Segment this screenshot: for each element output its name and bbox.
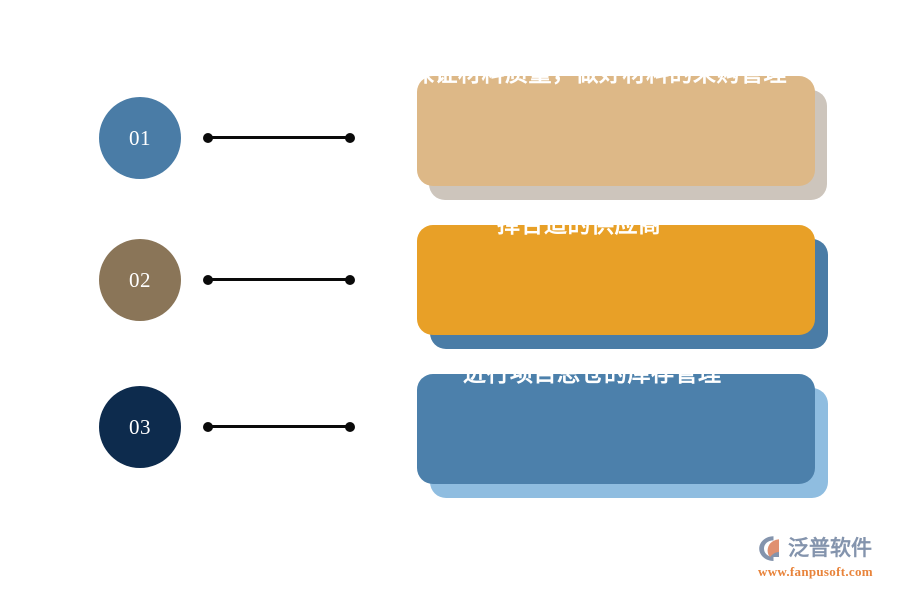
step-circle-02[interactable]: 02: [99, 239, 181, 321]
fanpu-swoosh-logo-icon: [757, 535, 785, 562]
logo-website-url: www.fanpusoft.com: [757, 564, 892, 580]
step-number-label: 03: [129, 417, 151, 438]
logo-company-name: 泛普软件: [788, 538, 872, 559]
step-card-1[interactable]: 保证材料质量，做好材料的采购管理: [417, 76, 815, 186]
connector-line-1: [203, 133, 355, 143]
step-card-text: 择合适的供应商: [497, 213, 662, 236]
brand-logo[interactable]: 泛普软件 www.fanpusoft.com: [757, 533, 892, 581]
step-card-text: 进行项目总仓的库存管理: [463, 362, 722, 385]
step-number-label: 01: [129, 128, 151, 149]
connector-stroke: [207, 136, 351, 139]
connector-stroke: [207, 278, 351, 281]
connector-stroke: [207, 425, 351, 428]
connector-line-3: [203, 422, 355, 432]
step-card-text: 保证材料质量，做好材料的采购管理: [411, 62, 787, 85]
step-circle-03[interactable]: 03: [99, 386, 181, 468]
connector-dot-end-icon: [345, 422, 355, 432]
step-card-2[interactable]: 择合适的供应商: [417, 225, 815, 335]
step-circle-01[interactable]: 01: [99, 97, 181, 179]
logo-top-row: 泛普软件: [757, 533, 892, 563]
connector-dot-end-icon: [345, 275, 355, 285]
step-number-label: 02: [129, 270, 151, 291]
connector-dot-end-icon: [345, 133, 355, 143]
connector-line-2: [203, 275, 355, 285]
infographic-canvas: 01 保证材料质量，做好材料的采购管理 02 择合适的供应商: [0, 0, 900, 600]
step-card-3[interactable]: 进行项目总仓的库存管理: [417, 374, 815, 484]
